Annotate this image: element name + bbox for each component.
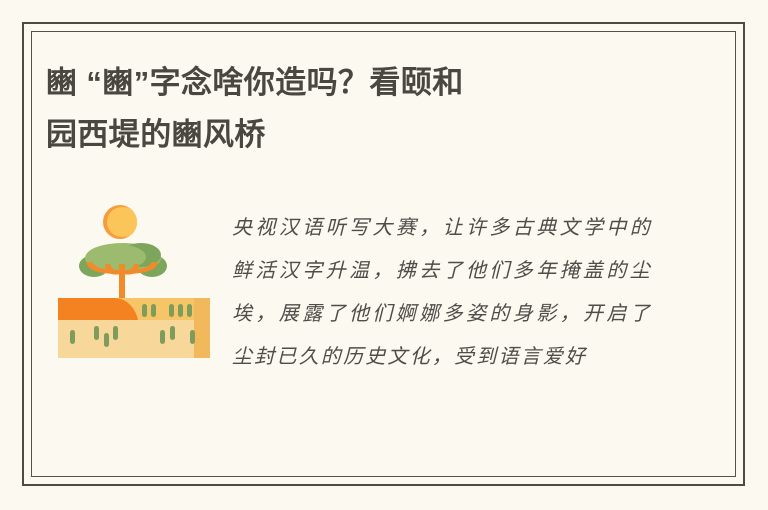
sun-icon xyxy=(103,205,137,239)
desert-ground xyxy=(58,298,210,358)
article-body-section: 央视汉语听写大赛，让许多古典文学中的鲜活汉字升温，拂去了他们多年掩盖的尘埃，展露… xyxy=(46,196,706,464)
article-body-text: 央视汉语听写大赛，让许多古典文学中的鲜活汉字升温，拂去了他们多年掩盖的尘埃，展露… xyxy=(232,206,652,378)
article-page: 豳 “豳”字念啥你造吗？看颐和 园西堤的豳风桥 xyxy=(0,0,768,510)
page-title: 豳 “豳”字念啥你造吗？看颐和 园西堤的豳风桥 xyxy=(46,57,686,161)
savanna-scene-illustration xyxy=(56,200,214,362)
